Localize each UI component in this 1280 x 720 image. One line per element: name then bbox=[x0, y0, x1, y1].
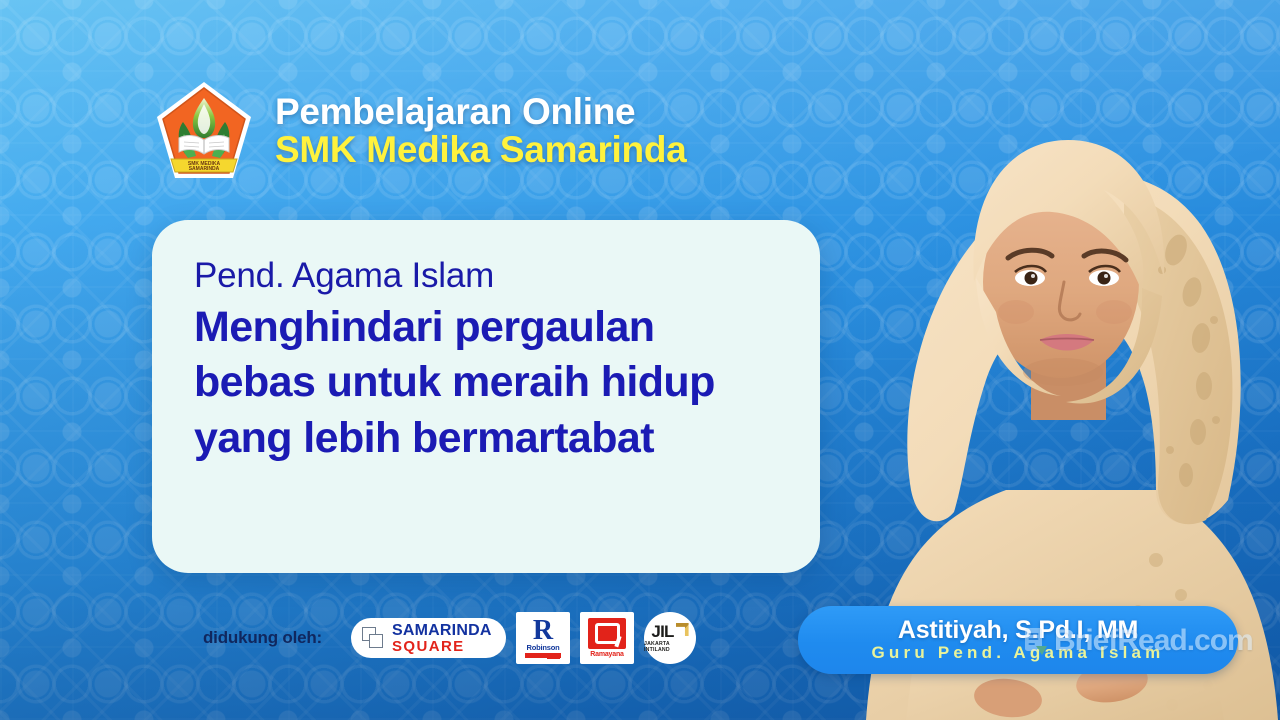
overlapping-squares-icon bbox=[362, 627, 385, 650]
slide-header: SMK MEDIKA SAMARINDA Pembelajaran Online… bbox=[155, 80, 686, 182]
presenter-name-badge: Astitiyah, S.Pd.I, MM Guru Pend. Agama I… bbox=[798, 606, 1238, 674]
header-title-line1: Pembelajaran Online bbox=[275, 93, 686, 131]
jil-subtitle: JAKARTA INTILAND bbox=[644, 641, 696, 653]
robinson-mart-bar bbox=[525, 653, 561, 658]
header-title-line2: SMK Medika Samarinda bbox=[275, 131, 686, 169]
sponsor-logo-ramayana[interactable]: Ramayana bbox=[580, 612, 634, 664]
presenter-role: Guru Pend. Agama Islam bbox=[872, 644, 1165, 663]
sponsor-logo-robinson-mart[interactable]: R Robinson bbox=[516, 612, 570, 664]
slide-canvas: SMK MEDIKA SAMARINDA Pembelajaran Online… bbox=[0, 0, 1280, 720]
sponsor-logo-samarinda-square[interactable]: SAMARINDA SQUARE bbox=[351, 618, 506, 658]
jil-text: JIL bbox=[651, 623, 673, 640]
jil-mark-row: JIL bbox=[651, 623, 688, 640]
subject-label: Pend. Agama Islam bbox=[194, 256, 780, 296]
sponsor-logo-jakarta-intiland[interactable]: JIL JAKARTA INTILAND bbox=[644, 612, 696, 664]
jil-arrow-icon bbox=[676, 623, 689, 636]
logo-banner-line2: SAMARINDA bbox=[189, 166, 220, 172]
presenter-name: Astitiyah, S.Pd.I, MM bbox=[898, 617, 1138, 643]
sponsors-label: didukung oleh: bbox=[203, 628, 322, 648]
school-logo-icon: SMK MEDIKA SAMARINDA bbox=[155, 80, 253, 182]
robinson-name: Robinson bbox=[527, 643, 560, 652]
samarinda-square-line1: SAMARINDA bbox=[392, 623, 492, 639]
header-text-block: Pembelajaran Online SMK Medika Samarinda bbox=[275, 93, 686, 170]
robinson-r-mark: R bbox=[533, 618, 553, 643]
lesson-title: Menghindari pergaulan bebas untuk meraih… bbox=[194, 300, 780, 466]
lesson-card: Pend. Agama Islam Menghindari pergaulan … bbox=[152, 220, 820, 573]
samarinda-square-line2: SQUARE bbox=[392, 639, 492, 654]
ramayana-name: Ramayana bbox=[590, 651, 623, 658]
ramayana-r-mark bbox=[588, 618, 626, 649]
samarinda-square-text: SAMARINDA SQUARE bbox=[392, 623, 492, 654]
sponsors-row: didukung oleh: SAMARINDA SQUARE R Robins… bbox=[203, 612, 696, 664]
